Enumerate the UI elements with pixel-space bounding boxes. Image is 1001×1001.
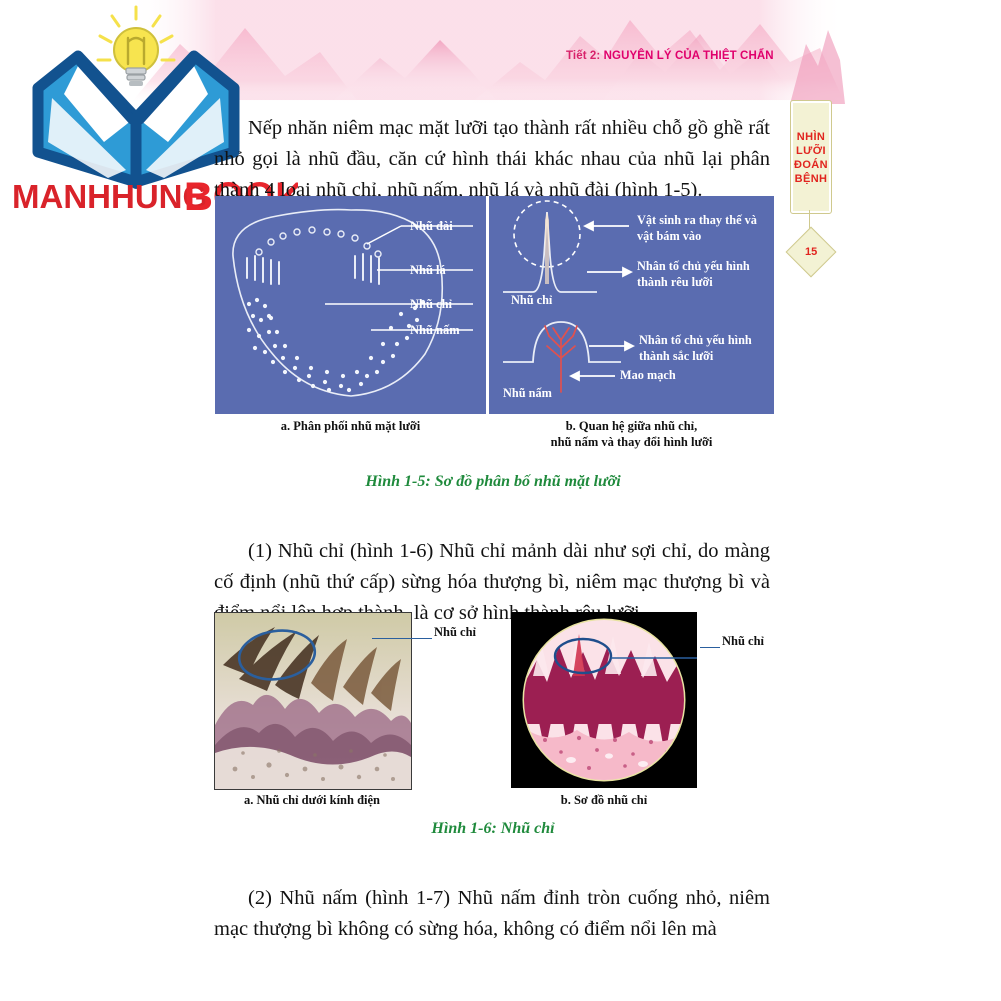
running-header-title: NGUYÊN LÝ CỦA THIỆT CHẨN (604, 50, 774, 62)
figure-1-5-panel-a: Nhũ đài Nhũ lá Nhũ chỉ Nhũ nấm (215, 196, 489, 414)
bookmark-word-4: BỆNH (795, 174, 828, 185)
figure-number-1-6: Hình 1-6: Nhũ chỉ (214, 820, 772, 838)
caption-1-6-b: b. Sơ đồ nhũ chỉ (511, 792, 697, 808)
paragraph-intro: Nếp nhăn niêm mạc mặt lưỡi tạo thành rất… (214, 113, 770, 206)
leader-line-1-6-b (700, 647, 720, 648)
label-nhu-dai: Nhũ đài (410, 219, 453, 234)
brand-text-part1: MANHHUNG (12, 178, 208, 214)
label-1-6-a: Nhũ chỉ (434, 625, 476, 640)
page-number-badge: 15 (786, 227, 837, 278)
caption-1-6-a: a. Nhũ chỉ dưới kính điện (214, 792, 410, 808)
panel-b-arrows (571, 222, 633, 380)
label-vat-sinh-ra: Vật sinh ra thay thế và vật bám vào (637, 212, 769, 244)
figure-1-6-photo-b (511, 612, 697, 788)
circumvallate-row (256, 227, 381, 257)
caption-1-5-b: b. Quan hệ giữa nhũ chỉ, nhũ nấm và thay… (489, 418, 774, 450)
foliate-dashes (247, 254, 379, 284)
bulb-glass (114, 28, 158, 72)
fungiform-dots (247, 298, 425, 392)
bookmark-word-2: LƯỠI (796, 146, 826, 157)
caption-1-5-b-line2: nhũ nấm và thay đổi hình lưỡi (551, 435, 713, 449)
label-panel-b-nhu-chi: Nhũ chỉ (511, 293, 552, 308)
filiform-papilla-shape (503, 212, 597, 292)
label-1-6-b: Nhũ chỉ (722, 634, 764, 649)
caption-1-5-b-line1: b. Quan hệ giữa nhũ chỉ, (566, 419, 698, 433)
label-nhu-la: Nhũ lá (410, 263, 446, 278)
running-header: Tiết 2: NGUYÊN LÝ CỦA THIỆT CHẨN (566, 50, 774, 62)
bookmark-word-1: NHÌN (797, 132, 826, 143)
label-nhu-chi: Nhũ chỉ (410, 297, 452, 312)
paragraph-fungiform: (2) Nhũ nấm (hình 1-7) Nhũ nấm đỉnh tròn… (214, 883, 770, 945)
label-nhan-to-reu-luoi: Nhân tố chủ yếu hình thành rêu lưỡi (637, 258, 769, 290)
running-header-lead: Tiết 2: (566, 50, 600, 62)
label-nhan-to-sac-luoi: Nhân tố chủ yếu hình thành sắc lưỡi (639, 332, 771, 364)
label-mao-mach: Mao mạch (620, 368, 676, 383)
caption-1-5-a: a. Phân phối nhũ mặt lưỡi (215, 418, 486, 434)
bookmark-word-3: ĐOÁN (794, 160, 828, 171)
fungiform-papilla-shape (503, 322, 621, 362)
figure-1-5-panel-b: Vật sinh ra thay thế và vật bám vào Nhân… (489, 196, 774, 414)
label-panel-b-nhu-nam: Nhũ nấm (503, 386, 552, 401)
figure-number-1-5: Hình 1-5: Sơ đồ phân bố nhũ mặt lưỡi (214, 473, 772, 491)
figure-1-5: Nhũ đài Nhũ lá Nhũ chỉ Nhũ nấm (215, 196, 774, 414)
capillary-tree (545, 326, 577, 392)
page-number: 15 (805, 246, 817, 258)
side-bookmark: NHÌN LƯỠI ĐOÁN BỆNH (790, 100, 832, 214)
label-nhu-nam: Nhũ nấm (410, 323, 460, 338)
leader-line-1-6-a (372, 638, 432, 639)
